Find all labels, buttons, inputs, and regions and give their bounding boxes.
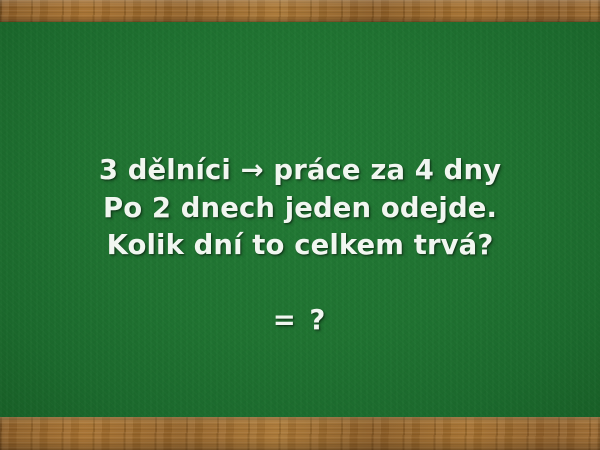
problem-line-2: Po 2 dnech jeden odejde.: [0, 190, 600, 228]
problem-text-block: 3 dělníci → práce za 4 dny Po 2 dnech je…: [0, 152, 600, 339]
problem-line-1: 3 dělníci → práce za 4 dny: [0, 152, 600, 190]
problem-line-3: Kolik dní to celkem trvá?: [0, 227, 600, 265]
chalkboard-frame-bottom: [0, 417, 600, 450]
frame-bottom-highlight: [0, 417, 600, 426]
frame-bottom-shadow: [0, 438, 600, 450]
chalkboard-slide: 3 dělníci → práce za 4 dny Po 2 dnech je…: [0, 0, 600, 450]
answer-placeholder: = ?: [0, 302, 600, 340]
frame-top-highlight: [0, 0, 600, 7]
chalkboard-surface: 3 dělníci → práce za 4 dny Po 2 dnech je…: [0, 22, 600, 417]
chalkboard-frame-top: [0, 0, 600, 22]
